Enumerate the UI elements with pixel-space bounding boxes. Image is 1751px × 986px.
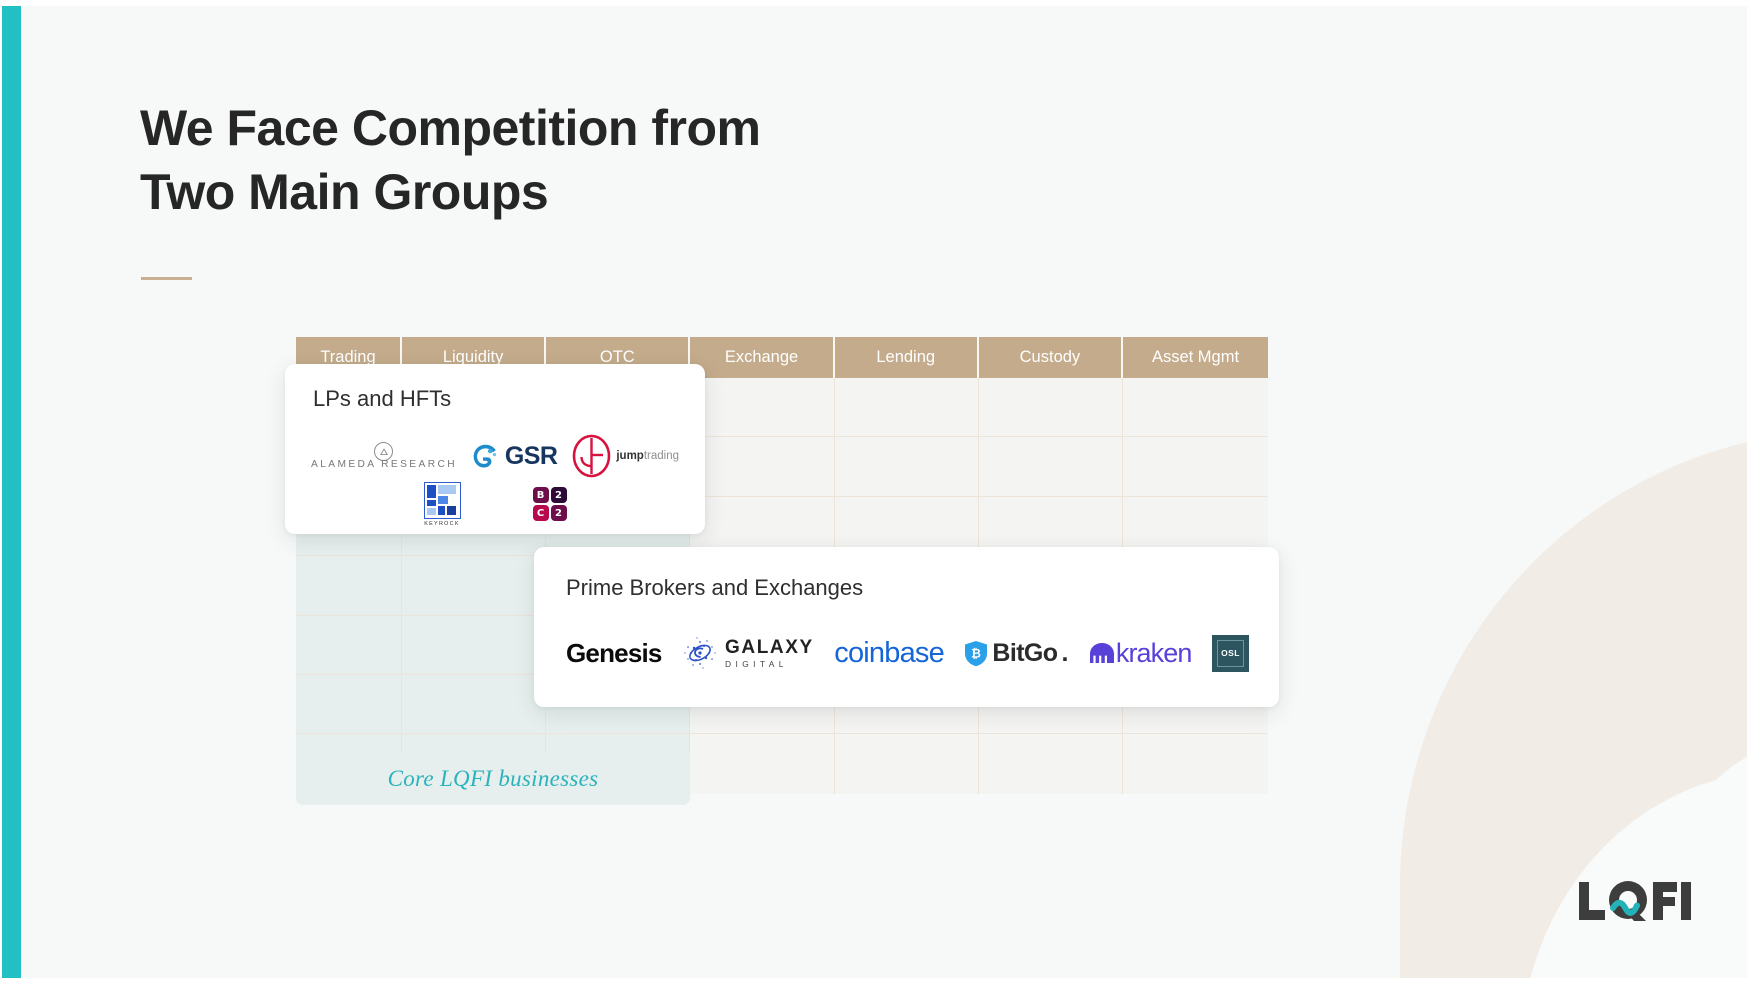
b2c2-tile-c: C — [533, 505, 549, 521]
coinbase-wordmark: coinbase — [834, 637, 944, 670]
keyrock-wordmark: KEYROCK — [424, 521, 459, 527]
bitgo-wordmark-suffix: . — [1061, 639, 1068, 668]
bitgo-shield-icon: ₿ — [964, 640, 988, 667]
card-lps-logo-row-2: KEYROCK B 2 C 2 — [311, 480, 679, 528]
left-accent-bar — [2, 6, 21, 978]
core-businesses-strip: Core LQFI businesses — [296, 753, 690, 805]
core-businesses-label: Core LQFI businesses — [388, 766, 599, 792]
keyrock-logo: KEYROCK — [424, 482, 461, 527]
kraken-mark-icon — [1089, 643, 1115, 663]
slide-canvas: We Face Competition from Two Main Groups… — [0, 0, 1751, 986]
galaxy-digital-mark-icon — [682, 635, 718, 671]
osl-wordmark: OSL — [1221, 648, 1240, 658]
card-lps-and-hfts: LPs and HFTs ALAMEDA RESEARCH — [285, 364, 705, 534]
kraken-wordmark: kraken — [1116, 638, 1192, 669]
jump-trading-wordmark: jumptrading — [616, 450, 679, 462]
card-lps-logo-row-1: ALAMEDA RESEARCH GSR — [311, 432, 679, 480]
alameda-research-logo: ALAMEDA RESEARCH — [311, 442, 457, 470]
galaxy-digital-subwordmark: DIGITAL — [725, 660, 814, 668]
coinbase-logo: coinbase — [834, 637, 944, 670]
galaxy-digital-wordmark: GALAXY — [725, 638, 814, 657]
genesis-logo: Genesis — [566, 638, 662, 669]
bitgo-wordmark: BitGo — [992, 639, 1057, 668]
jump-trading-word-bold: jump — [616, 450, 643, 462]
osl-logo: OSL — [1212, 635, 1249, 672]
matrix-header-lending[interactable]: Lending — [835, 337, 979, 378]
title-underline-rule — [141, 277, 192, 280]
osl-mark-icon: OSL — [1212, 635, 1249, 672]
jump-trading-logo: jumptrading — [572, 434, 679, 478]
gsr-logo: GSR — [472, 442, 558, 471]
b2c2-tile-2b: 2 — [551, 505, 567, 521]
lqfi-brand-logo — [1577, 876, 1695, 924]
b2c2-logo: B 2 C 2 — [533, 487, 567, 521]
b2c2-tile-2a: 2 — [551, 487, 567, 503]
alameda-research-wordmark: ALAMEDA RESEARCH — [311, 459, 457, 470]
kraken-logo: kraken — [1089, 638, 1192, 669]
svg-text:₿: ₿ — [972, 646, 982, 660]
genesis-wordmark: Genesis — [566, 638, 662, 669]
gsr-wordmark: GSR — [505, 442, 558, 471]
matrix-header-custody[interactable]: Custody — [979, 337, 1123, 378]
bitgo-logo: ₿ BitGo . — [964, 639, 1068, 668]
gsr-mark-icon — [472, 443, 499, 470]
card-prime-brokers-title: Prime Brokers and Exchanges — [566, 575, 1247, 601]
galaxy-digital-logo: GALAXY DIGITAL — [682, 635, 814, 671]
matrix-header-exchange[interactable]: Exchange — [690, 337, 834, 378]
jump-trading-word-light: trading — [644, 450, 679, 462]
card-prime-brokers-and-exchanges: Prime Brokers and Exchanges Genesis — [534, 547, 1279, 707]
canvas-edge-right — [1747, 0, 1751, 986]
card-prime-brokers-logo-row: Genesis — [566, 623, 1249, 683]
card-lps-title: LPs and HFTs — [313, 386, 679, 412]
b2c2-tile-b: B — [533, 487, 549, 503]
page-title: We Face Competition from Two Main Groups — [140, 96, 1040, 224]
keyrock-mark-icon — [424, 482, 461, 519]
canvas-edge-left — [0, 0, 2, 986]
matrix-header-asset-mgmt[interactable]: Asset Mgmt — [1123, 337, 1268, 378]
canvas-edge-bottom — [0, 978, 1751, 986]
canvas-edge-top — [0, 0, 1751, 6]
jump-trading-mark-icon — [572, 434, 611, 478]
